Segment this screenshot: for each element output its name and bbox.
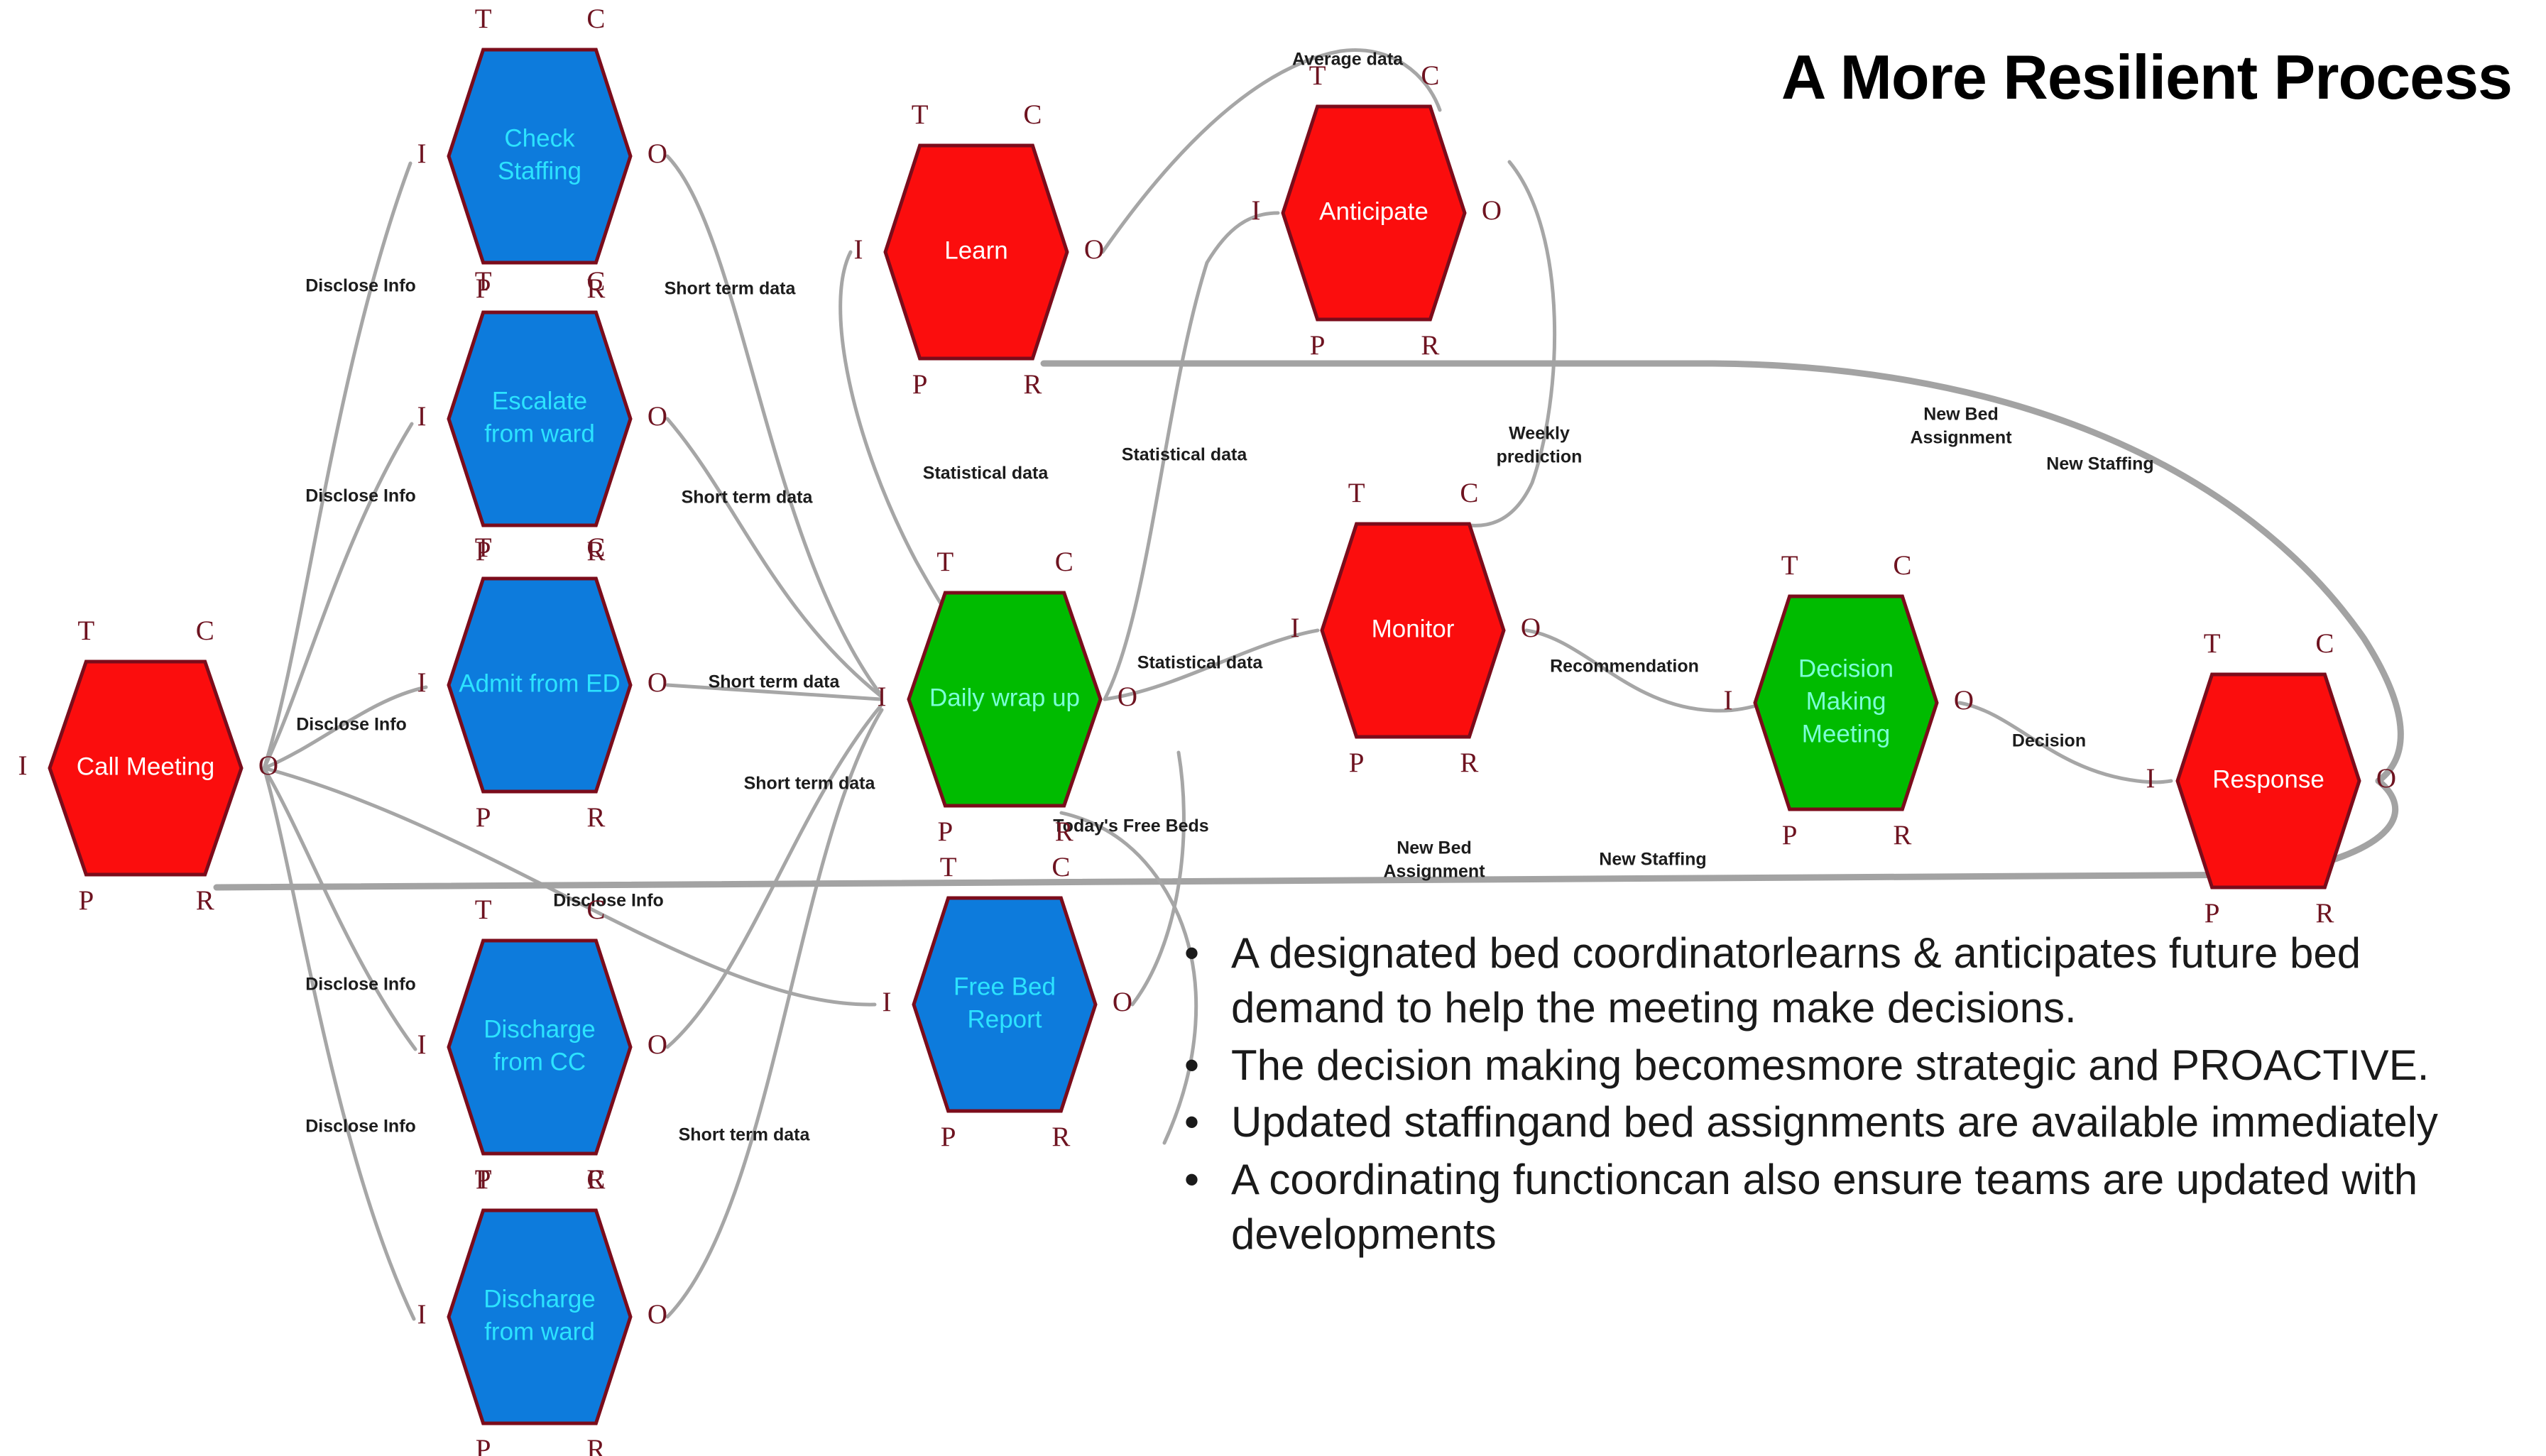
port-I-label: I — [417, 1299, 427, 1330]
page-title: A More Resilient Process — [1781, 41, 2512, 114]
port-I-label: I — [2146, 763, 2156, 794]
corner-C-label: C — [586, 1164, 605, 1195]
corner-R-label: R — [196, 885, 214, 916]
corner-T-label: T — [475, 894, 492, 925]
corner-T-label: T — [1781, 550, 1798, 581]
bullet-text: A coordinating functioncan also ensure t… — [1231, 1156, 2417, 1258]
list-item: •A coordinating functioncan also ensure … — [1170, 1153, 2505, 1262]
corner-P-label: P — [1349, 748, 1365, 778]
corner-C-label: C — [1023, 99, 1042, 130]
hexagon-node-daily-wrap-up[interactable]: Daily wrap upTCPRIO — [878, 547, 1138, 847]
hexagon-label: Staffing — [498, 157, 581, 185]
corner-P-label: P — [941, 1122, 956, 1152]
corner-R-label: R — [1460, 748, 1478, 778]
hexagon-label: Making — [1806, 687, 1886, 715]
bullet-items: •A designated bed coordinatorlearns & an… — [1170, 926, 2505, 1262]
corner-C-label: C — [586, 894, 605, 925]
hexagon-label: Anticipate — [1319, 197, 1428, 225]
hexagon-node-admit-ed[interactable]: Admit from EDTCPRIO — [417, 532, 668, 833]
list-item: •Updated staffingand bed assignments are… — [1170, 1095, 2505, 1150]
corner-R-label: R — [1055, 816, 1073, 847]
slide-canvas: Disclose InfoDisclose InfoDisclose InfoD… — [0, 0, 2546, 1456]
port-O-label: O — [1084, 234, 1104, 265]
hexagon-label: Meeting — [1802, 720, 1891, 748]
hexagon-shape[interactable] — [449, 312, 630, 525]
corner-T-label: T — [475, 1164, 492, 1195]
hexagon-label: Report — [967, 1005, 1042, 1033]
hexagon-label: Escalate — [492, 387, 587, 415]
hexagon-shape[interactable] — [449, 941, 630, 1154]
corner-R-label: R — [1893, 820, 1911, 850]
corner-T-label: T — [936, 547, 954, 577]
hexagon-shape[interactable] — [914, 898, 1096, 1111]
hexagon-label: from CC — [493, 1048, 586, 1075]
port-O-label: O — [1118, 682, 1137, 712]
corner-T-label: T — [475, 266, 492, 297]
port-O-label: O — [648, 138, 667, 169]
port-O-label: O — [1954, 685, 1974, 716]
bullet-list: •A designated bed coordinatorlearns & an… — [1170, 926, 2505, 1265]
port-O-label: O — [1113, 987, 1132, 1017]
hexagon-label: Learn — [944, 236, 1008, 264]
corner-R-label: R — [1421, 330, 1439, 361]
corner-T-label: T — [77, 615, 94, 646]
bullet-marker-icon: • — [1184, 1153, 1199, 1208]
hexagon-node-monitor[interactable]: MonitorTCPRIO — [1291, 478, 1541, 778]
corner-P-label: P — [912, 369, 928, 400]
port-O-label: O — [648, 1029, 667, 1060]
corner-C-label: C — [586, 266, 605, 297]
corner-C-label: C — [1460, 478, 1478, 508]
corner-P-label: P — [78, 885, 94, 916]
port-O-label: O — [648, 401, 667, 432]
port-I-label: I — [1252, 195, 1261, 226]
corner-C-label: C — [196, 615, 214, 646]
corner-T-label: T — [940, 852, 957, 882]
corner-C-label: C — [2315, 628, 2334, 659]
hexagon-label: Check — [504, 124, 575, 152]
port-I-label: I — [883, 987, 892, 1017]
port-I-label: I — [417, 667, 427, 698]
hexagon-label: Discharge — [483, 1285, 596, 1313]
hexagon-label: Response — [2212, 765, 2324, 793]
bullet-marker-icon: • — [1184, 926, 1199, 981]
corner-R-label: R — [1023, 369, 1042, 400]
list-item: •The decision making becomesmore strateg… — [1170, 1039, 2505, 1093]
hexagon-node-escalate-ward[interactable]: Escalatefrom wardTCPRIO — [417, 266, 668, 566]
corner-P-label: P — [1310, 330, 1326, 361]
corner-P-label: P — [2204, 898, 2220, 929]
hexagon-label: from ward — [484, 420, 595, 447]
corner-T-label: T — [1309, 60, 1326, 91]
bullet-text: A designated bed coordinatorlearns & ant… — [1231, 929, 2361, 1031]
hexagon-node-free-bed-report[interactable]: Free BedReportTCPRIO — [883, 852, 1133, 1152]
port-O-label: O — [1482, 195, 1502, 226]
corner-P-label: P — [476, 1434, 491, 1456]
corner-P-label: P — [476, 802, 491, 833]
hexagon-node-check-staffing[interactable]: CheckStaffingTCPRIO — [417, 4, 668, 304]
port-I-label: I — [1724, 685, 1733, 716]
port-O-label: O — [258, 750, 278, 781]
corner-T-label: T — [912, 99, 929, 130]
port-I-label: I — [854, 234, 863, 265]
bullet-marker-icon: • — [1184, 1095, 1199, 1150]
corner-R-label: R — [586, 802, 605, 833]
hexagon-label: Discharge — [483, 1015, 596, 1043]
corner-C-label: C — [586, 4, 605, 34]
hexagon-label: Monitor — [1372, 615, 1455, 642]
hexagon-node-call-meeting[interactable]: Call MeetingTCPRIO — [18, 615, 279, 916]
hexagon-node-response[interactable]: ResponseTCPRIO — [2146, 628, 2397, 929]
hexagon-label: Daily wrap up — [929, 684, 1080, 711]
hexagon-label: Admit from ED — [459, 669, 621, 697]
hexagon-label: Decision — [1798, 655, 1894, 682]
corner-T-label: T — [475, 532, 492, 563]
corner-P-label: P — [937, 816, 953, 847]
corner-C-label: C — [1893, 550, 1911, 581]
port-I-label: I — [417, 1029, 427, 1060]
bullet-text: Updated staffingand bed assignments are … — [1231, 1098, 2438, 1146]
hexagon-node-learn[interactable]: LearnTCPRIO — [854, 99, 1105, 400]
hexagon-node-discharge-cc[interactable]: Dischargefrom CCTCPRIO — [417, 894, 668, 1195]
corner-T-label: T — [2204, 628, 2221, 659]
port-I-label: I — [417, 401, 427, 432]
hexagon-label: from ward — [484, 1318, 595, 1345]
corner-C-label: C — [1051, 852, 1070, 882]
corner-C-label: C — [586, 532, 605, 563]
bullet-text: The decision making becomesmore strategi… — [1231, 1041, 2429, 1089]
corner-C-label: C — [1055, 547, 1073, 577]
hexagon-node-decision-meeting[interactable]: DecisionMakingMeetingTCPRIO — [1724, 550, 1974, 850]
port-I-label: I — [417, 138, 427, 169]
corner-R-label: R — [586, 1434, 605, 1456]
hexagon-shape[interactable] — [449, 50, 630, 263]
port-I-label: I — [1291, 613, 1300, 643]
hexagon-label: Free Bed — [954, 973, 1056, 1000]
hexagon-node-anticipate[interactable]: AnticipateTCPRIO — [1252, 60, 1502, 361]
corner-T-label: T — [475, 4, 492, 34]
port-O-label: O — [2376, 763, 2396, 794]
port-O-label: O — [648, 667, 667, 698]
corner-T-label: T — [1348, 478, 1365, 508]
corner-R-label: R — [2315, 898, 2334, 929]
hexagon-label: Call Meeting — [77, 752, 215, 780]
port-O-label: O — [1521, 613, 1541, 643]
corner-R-label: R — [1051, 1122, 1070, 1152]
port-I-label: I — [878, 682, 887, 712]
bullet-marker-icon: • — [1184, 1039, 1199, 1093]
corner-C-label: C — [1421, 60, 1439, 91]
corner-P-label: P — [1782, 820, 1798, 850]
hexagon-shape[interactable] — [449, 1210, 630, 1423]
hexagon-node-discharge-ward[interactable]: Dischargefrom wardTCPRIO — [417, 1164, 668, 1456]
port-I-label: I — [18, 750, 28, 781]
port-O-label: O — [648, 1299, 667, 1330]
list-item: •A designated bed coordinatorlearns & an… — [1170, 926, 2505, 1036]
